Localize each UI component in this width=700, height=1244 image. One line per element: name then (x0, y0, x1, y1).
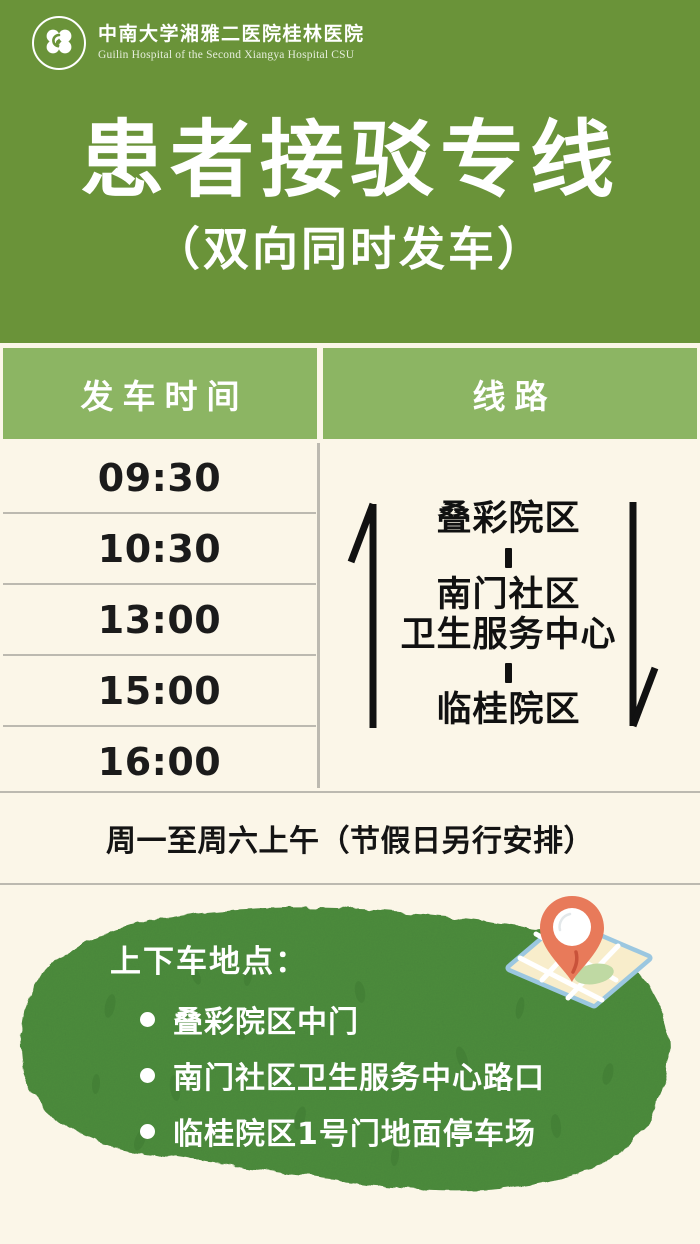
page-subtitle: （双向同时发车） (0, 226, 700, 272)
boarding-location-list: 叠彩院区中门 南门社区卫生服务中心路口 临桂院区1号门地面停车场 (140, 991, 680, 1159)
list-item: 临桂院区1号门地面停车场 (140, 1103, 680, 1159)
route-stop-2-line1: 南门社区 (436, 576, 580, 616)
bullet-icon (140, 1012, 155, 1027)
hospital-clover-logo-icon (32, 16, 86, 70)
hospital-brand: 中南大学湘雅二医院桂林医院 Guilin Hospital of the Sec… (32, 16, 365, 70)
route-stop-2-line2: 卫生服务中心 (400, 616, 616, 656)
boarding-location-label: 叠彩院区中门 (173, 997, 359, 1041)
table-row: 09:30 (3, 443, 316, 514)
bullet-icon (140, 1124, 155, 1139)
table-row: 15:00 (3, 656, 316, 727)
boarding-location-label: 南门社区卫生服务中心路口 (173, 1053, 545, 1097)
table-header-row: 发车时间 线路 (0, 348, 700, 439)
hospital-name-block: 中南大学湘雅二医院桂林医院 Guilin Hospital of the Sec… (98, 23, 365, 64)
list-item: 南门社区卫生服务中心路口 (140, 1047, 680, 1103)
route-connector-1 (505, 548, 512, 568)
page-title: 患者接驳专线 (0, 118, 700, 202)
schedule-table: 发车时间 线路 09:30 10:30 13:00 15:00 16:00 (0, 343, 700, 888)
schedule-note: 周一至周六上午（节假日另行安排） (0, 791, 700, 885)
route-stop-1: 叠彩院区 (436, 500, 580, 540)
boarding-section: 上下车地点： 叠彩院区中门 南门社区卫生服务中心路口 临桂院区1号门地面停车场 (0, 888, 700, 1244)
route-connector-2 (505, 663, 512, 683)
route-stop-list: 叠彩院区 南门社区 卫生服务中心 临桂院区 (320, 443, 697, 788)
route-stop-3: 临桂院区 (436, 691, 580, 731)
table-row: 13:00 (3, 585, 316, 656)
departure-time-column: 09:30 10:30 13:00 15:00 16:00 (3, 443, 316, 788)
boarding-location-label: 临桂院区1号门地面停车场 (173, 1109, 536, 1153)
map-pin-location-icon (492, 896, 667, 1016)
table-row: 16:00 (3, 727, 316, 796)
hospital-name-cn: 中南大学湘雅二医院桂林医院 (98, 23, 365, 47)
column-header-departure-time: 发车时间 (3, 348, 317, 439)
column-header-route: 线路 (323, 348, 697, 439)
table-row: 10:30 (3, 514, 316, 585)
route-column: 叠彩院区 南门社区 卫生服务中心 临桂院区 (320, 443, 697, 788)
hospital-name-en: Guilin Hospital of the Second Xiangya Ho… (98, 48, 365, 63)
table-body: 09:30 10:30 13:00 15:00 16:00 (0, 443, 700, 788)
bullet-icon (140, 1068, 155, 1083)
poster-root: 中南大学湘雅二医院桂林医院 Guilin Hospital of the Sec… (0, 0, 700, 1244)
hero-banner: 中南大学湘雅二医院桂林医院 Guilin Hospital of the Sec… (0, 0, 700, 343)
boarding-heading: 上下车地点： (110, 936, 308, 981)
